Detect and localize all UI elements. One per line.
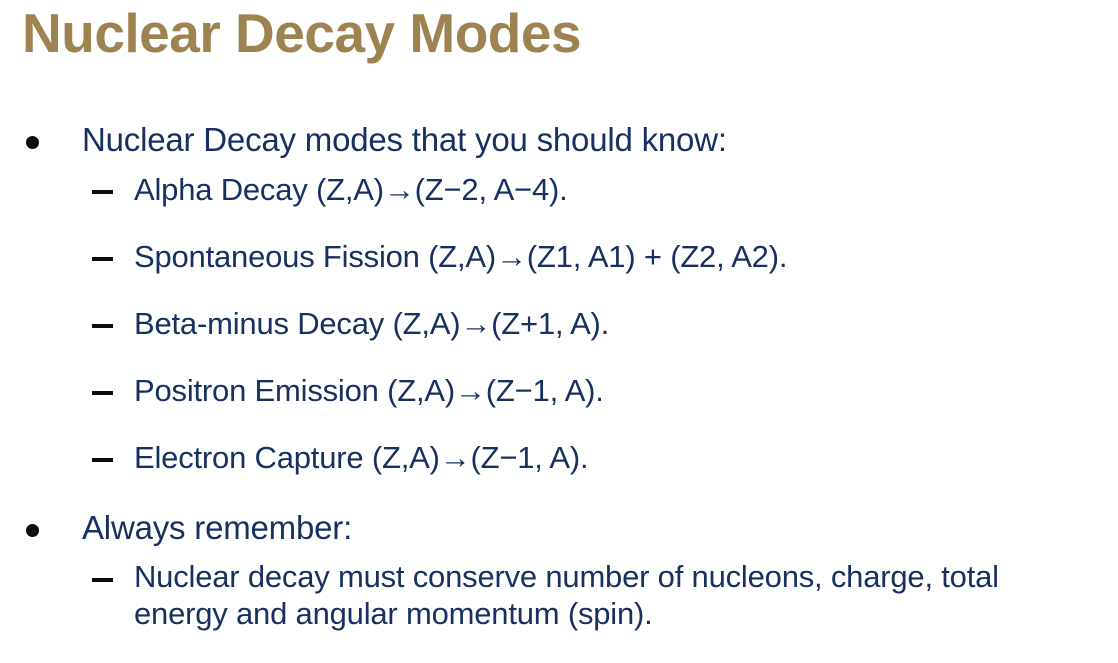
sub-bullet-label: Alpha Decay (Z,A)→(Z−2, A−4). [134,170,1118,210]
sub-bullet-spontaneous-fission: Spontaneous Fission (Z,A)→(Z1, A1) + (Z2… [0,237,1118,277]
bullet-circle-icon [26,524,39,537]
sub-bullet-label: Electron Capture (Z,A)→(Z−1, A). [134,438,1118,478]
sub-bullet-label: Beta-minus Decay (Z,A)→(Z+1, A). [134,304,1118,344]
dash-marker-icon [92,458,113,462]
sub-bullet-label: Spontaneous Fission (Z,A)→(Z1, A1) + (Z2… [134,237,1118,277]
sub-bullet-group-always-remember: Nuclear decay must conserve number of nu… [0,558,1118,632]
dash-marker-icon [92,190,113,194]
sub-bullet-electron-capture: Electron Capture (Z,A)→(Z−1, A). [0,438,1118,478]
sub-bullet-alpha-decay: Alpha Decay (Z,A)→(Z−2, A−4). [0,170,1118,210]
slide-body-content: Nuclear Decay modes that you should know… [0,118,1118,632]
dash-marker-icon [92,578,113,582]
bullet-level1-decay-modes: Nuclear Decay modes that you should know… [0,118,1118,162]
slide-canvas: Nuclear Decay Modes Nuclear Decay modes … [0,0,1118,663]
page-title: Nuclear Decay Modes [22,2,581,64]
bullet-level1-label: Always remember: [82,506,1118,550]
bullet-level1-always-remember: Always remember: [0,506,1118,550]
sub-bullet-group-decay-modes: Alpha Decay (Z,A)→(Z−2, A−4). Spontaneou… [0,170,1118,478]
dash-marker-icon [92,257,113,261]
sub-bullet-conservation-law: Nuclear decay must conserve number of nu… [0,558,1118,632]
dash-marker-icon [92,324,113,328]
sub-bullet-beta-minus-decay: Beta-minus Decay (Z,A)→(Z+1, A). [0,304,1118,344]
bullet-circle-icon [26,136,39,149]
bullet-level1-label: Nuclear Decay modes that you should know… [82,118,1118,162]
sub-bullet-label: Positron Emission (Z,A)→(Z−1, A). [134,371,1118,411]
dash-marker-icon [92,391,113,395]
sub-bullet-positron-emission: Positron Emission (Z,A)→(Z−1, A). [0,371,1118,411]
sub-bullet-label: Nuclear decay must conserve number of nu… [134,558,1099,632]
